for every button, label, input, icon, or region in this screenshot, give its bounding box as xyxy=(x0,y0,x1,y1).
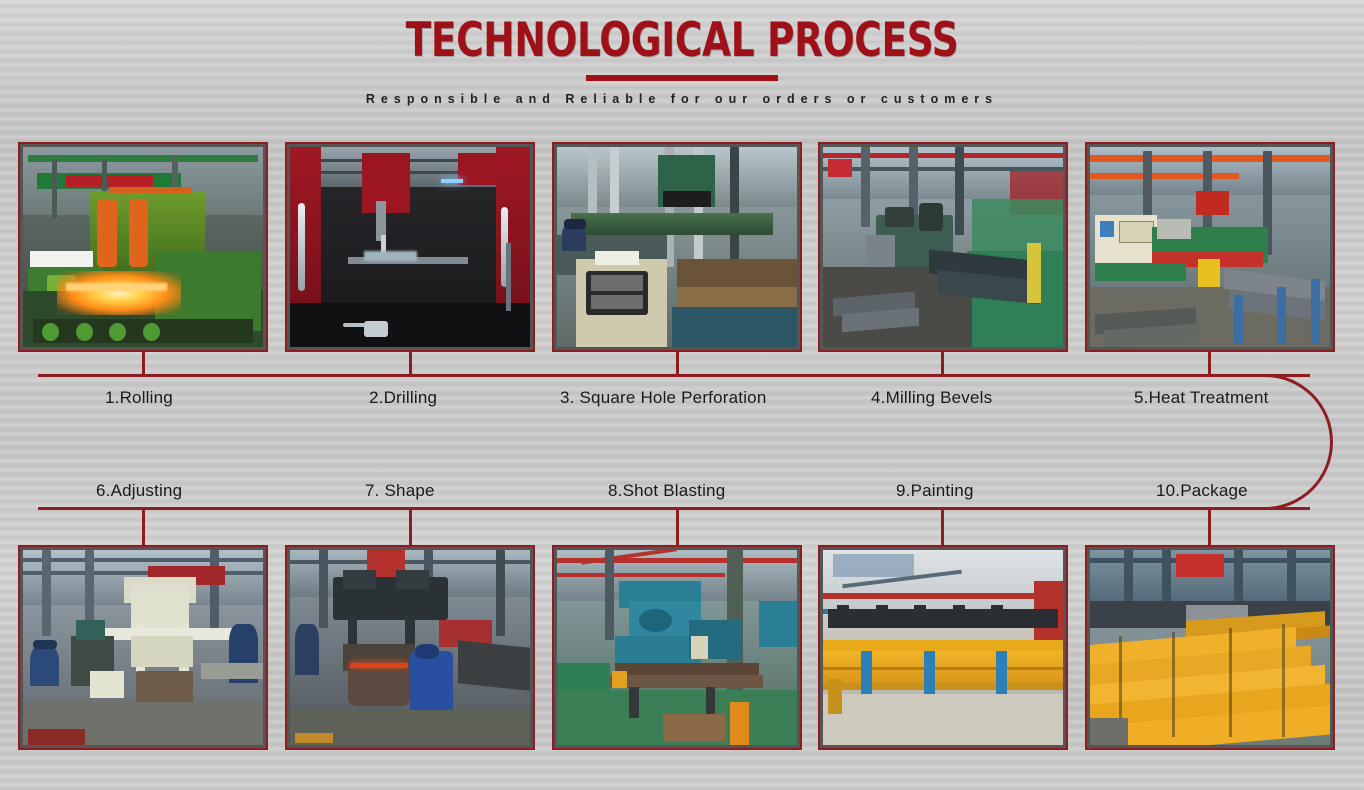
process-photo-package xyxy=(1085,545,1335,750)
flow-connector-step-1 xyxy=(142,352,145,375)
step-label-9: 9.Painting xyxy=(896,481,974,501)
flow-connector-step-6 xyxy=(142,509,145,545)
process-photo-shape xyxy=(285,545,535,750)
step-label-5: 5.Heat Treatment xyxy=(1134,388,1269,408)
flow-connector-step-8 xyxy=(676,509,679,545)
step-label-10: 10.Package xyxy=(1156,481,1248,501)
page-subtitle: Responsible and Reliable for our orders … xyxy=(0,92,1364,106)
flow-connector-step-3 xyxy=(676,352,679,375)
flow-connector-step-2 xyxy=(409,352,412,375)
step-label-3: 3. Square Hole Perforation xyxy=(560,388,767,408)
step-label-1: 1.Rolling xyxy=(105,388,173,408)
flow-connector-step-9 xyxy=(941,509,944,545)
flow-connector-step-4 xyxy=(941,352,944,375)
process-photo-painting xyxy=(818,545,1068,750)
step-label-6: 6.Adjusting xyxy=(96,481,182,501)
page-title: TECHNOLOGICAL PROCESS xyxy=(136,14,1227,67)
step-label-7: 7. Shape xyxy=(365,481,435,501)
process-photo-heat-treatment xyxy=(1085,142,1335,352)
technological-process-infographic: TECHNOLOGICAL PROCESS Responsible and Re… xyxy=(0,0,1364,790)
flow-connector-step-10 xyxy=(1208,509,1211,545)
title-underline-rule xyxy=(586,75,778,81)
process-photo-adjusting xyxy=(18,545,268,750)
step-label-4: 4.Milling Bevels xyxy=(871,388,992,408)
header: TECHNOLOGICAL PROCESS Responsible and Re… xyxy=(0,14,1364,106)
flow-rail-upper xyxy=(38,374,1310,377)
process-photo-rolling xyxy=(18,142,268,352)
flow-connector-step-5 xyxy=(1208,352,1211,375)
flow-rail-lower xyxy=(38,507,1310,510)
flow-connector-step-7 xyxy=(409,509,412,545)
process-photo-square-hole-perforation xyxy=(552,142,802,352)
process-photo-drilling xyxy=(285,142,535,352)
process-photo-milling-bevels xyxy=(818,142,1068,352)
process-photo-shot-blasting xyxy=(552,545,802,750)
step-label-2: 2.Drilling xyxy=(369,388,437,408)
step-label-8: 8.Shot Blasting xyxy=(608,481,725,501)
